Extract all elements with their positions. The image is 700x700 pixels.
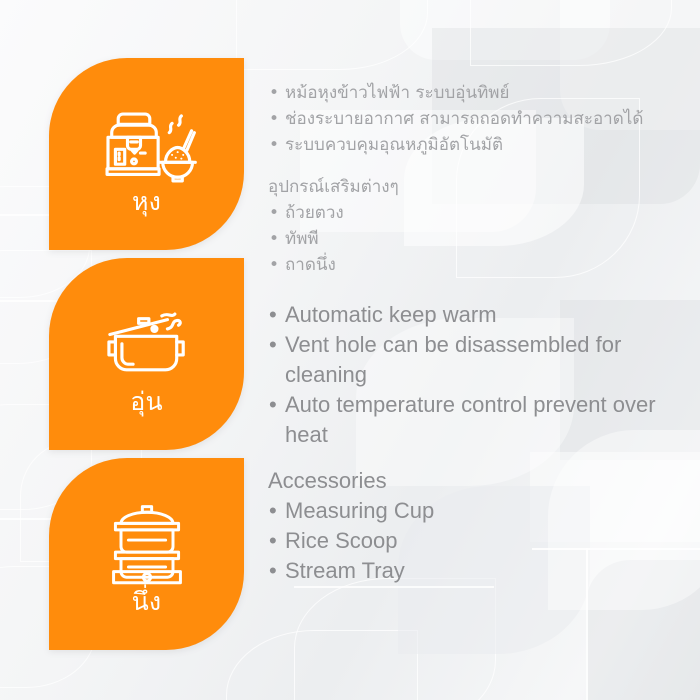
english-feature-list: Automatic keep warm Vent hole can be dis…: [268, 300, 692, 450]
bg-leaf-outline-top-right: [470, 0, 672, 66]
rice-cooker-with-rice-bowl-icon: [95, 95, 199, 187]
english-feature-item: Vent hole can be disassembled for cleani…: [268, 330, 692, 390]
stacked-steamer-icon: [95, 495, 199, 587]
thai-feature-list: หม้อหุงข้าวไฟฟ้า ระบบอุ่นทิพย์ ช่องระบาย…: [268, 80, 692, 158]
bg-soft-panel-top: [400, 0, 610, 60]
feature-card-label: หุง: [132, 189, 161, 214]
english-feature-item: Auto temperature control prevent over he…: [268, 390, 692, 450]
feature-text-column: หม้อหุงข้าวไฟฟ้า ระบบอุ่นทิพย์ ช่องระบาย…: [268, 80, 692, 586]
thai-feature-item: ช่องระบายอากาศ สามารถถอดทำความสะอาดได้: [268, 106, 692, 132]
feature-card-cook[interactable]: หุง: [49, 58, 244, 250]
english-accessory-item: Rice Scoop: [268, 526, 692, 556]
infographic-canvas: หุง อุ่น: [0, 0, 700, 700]
open-pot-steam-icon: [95, 295, 199, 387]
feature-card-label: อุ่น: [130, 389, 163, 414]
thai-accessory-item: ถาดนึ่ง: [268, 252, 692, 278]
english-accessories-list: Measuring Cup Rice Scoop Stream Tray: [268, 496, 692, 586]
section-spacer: [268, 278, 692, 300]
english-accessories-heading: Accessories: [268, 466, 692, 496]
thai-feature-item: หม้อหุงข้าวไฟฟ้า ระบบอุ่นทิพย์: [268, 80, 692, 106]
bg-leaf-outline-bottom-left: [226, 630, 418, 700]
feature-card-label: นึ่ง: [132, 589, 162, 614]
english-accessory-item: Stream Tray: [268, 556, 692, 586]
feature-card-steam[interactable]: นึ่ง: [49, 458, 244, 650]
english-feature-item: Automatic keep warm: [268, 300, 692, 330]
feature-card-keep-warm[interactable]: อุ่น: [49, 258, 244, 450]
thai-accessory-item: ถ้วยตวง: [268, 200, 692, 226]
english-accessory-item: Measuring Cup: [268, 496, 692, 526]
thai-accessories-heading: อุปกรณ์เสริมต่างๆ: [268, 174, 692, 200]
thai-accessories-list: ถ้วยตวง ทัพพี ถาดนึ่ง: [268, 200, 692, 278]
thai-accessory-item: ทัพพี: [268, 226, 692, 252]
bg-divider-6: [294, 586, 494, 588]
bg-leaf-outline-bottom-center: [294, 578, 496, 700]
thai-feature-item: ระบบควบคุมอุณหภูมิอัตโนมัติ: [268, 132, 692, 158]
bg-leaf-outline-top-center: [236, 0, 428, 70]
